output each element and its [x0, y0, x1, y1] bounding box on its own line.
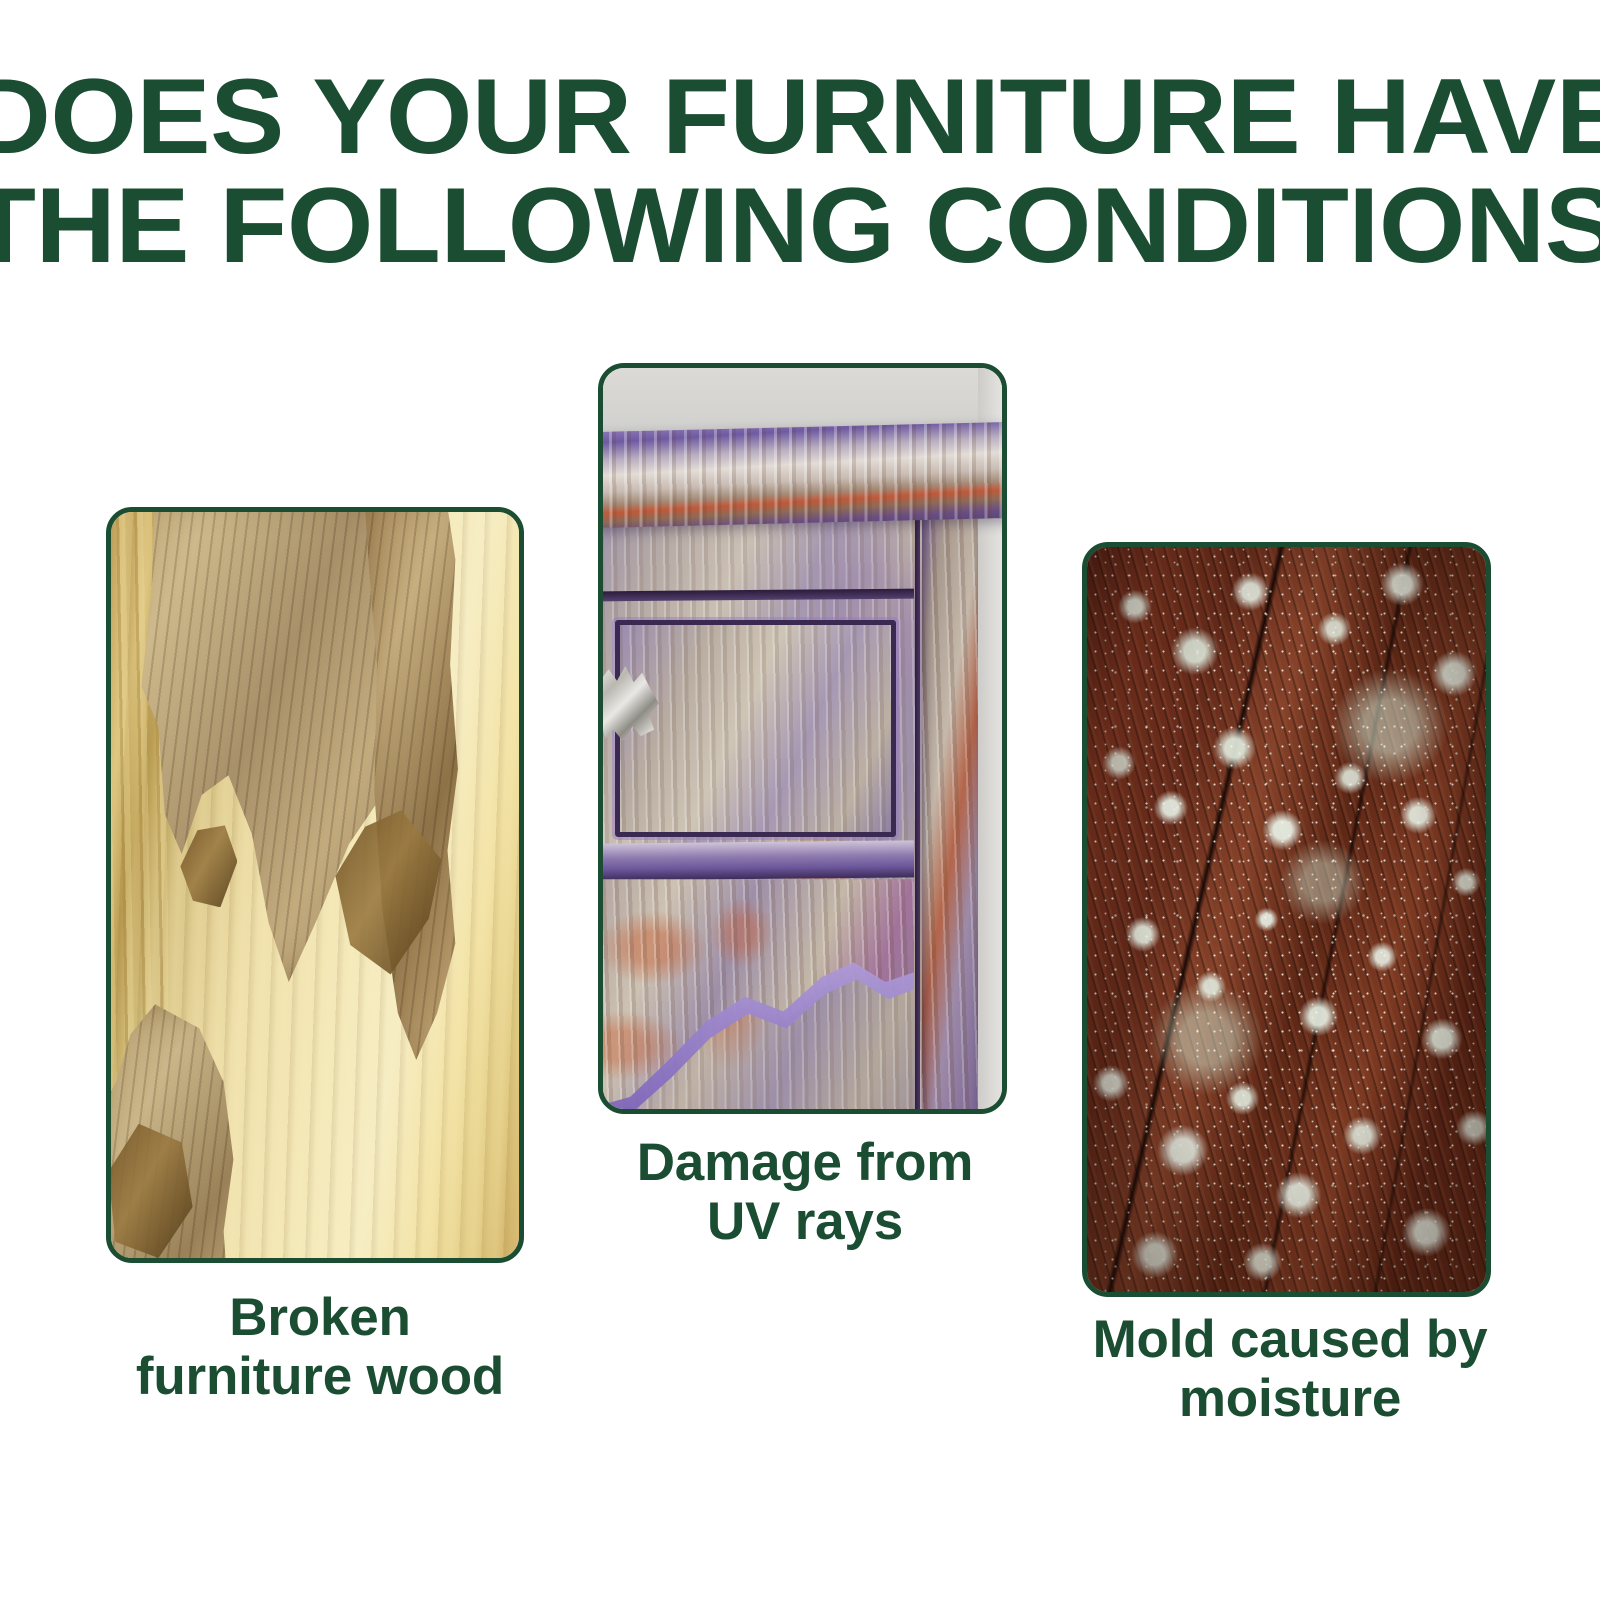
condition-card-mold [1082, 542, 1491, 1297]
caption-broken-wood-line-1: Broken [60, 1288, 580, 1347]
uv-damage-photo [603, 368, 1002, 1109]
caption-mold: Mold caused by moisture [1030, 1310, 1550, 1429]
wood-splinter [180, 825, 237, 907]
caption-mold-line-2: moisture [1030, 1369, 1550, 1428]
cabinet-top-surface [603, 422, 1002, 528]
cabinet-side-stile [922, 487, 978, 1109]
caption-broken-wood-line-2: furniture wood [60, 1347, 580, 1406]
caption-mold-line-1: Mold caused by [1030, 1310, 1550, 1369]
mold-photo [1087, 547, 1486, 1292]
photo-vignette [1087, 547, 1486, 1292]
cabinet-rail [603, 841, 914, 881]
broken-wood-photo [111, 512, 519, 1258]
caption-uv-damage-line-2: UV rays [580, 1192, 1030, 1251]
cabinet-reveal-vertical [915, 487, 921, 1109]
page-title-line-1: DOES YOUR FURNITURE HAVE [0, 62, 1600, 171]
caption-uv-damage-line-1: Damage from [580, 1133, 1030, 1192]
drawer-panel [615, 620, 896, 837]
condition-card-broken-wood [106, 507, 524, 1263]
page-title-line-2: THE FOLLOWING CONDITIONS? [0, 171, 1600, 280]
caption-uv-damage: Damage from UV rays [580, 1133, 1030, 1252]
condition-card-uv-damage [598, 363, 1007, 1114]
caption-broken-wood: Broken furniture wood [60, 1288, 580, 1407]
broken-wood-chunk-right [364, 512, 495, 1072]
page-title: DOES YOUR FURNITURE HAVE THE FOLLOWING C… [0, 62, 1600, 280]
